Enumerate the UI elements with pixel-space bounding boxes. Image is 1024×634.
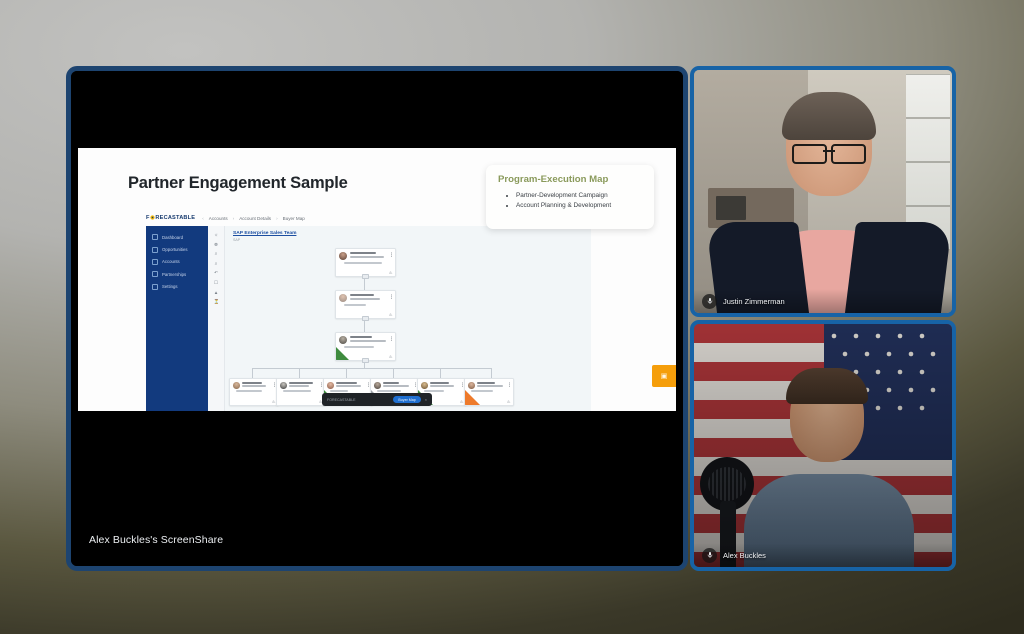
slide-bottom-toolbar[interactable]: FORECASTABLE Buyer Map × [322,393,432,406]
callout-heading: Program-Execution Map [498,174,642,185]
flag-icon [460,400,464,403]
video-vignette [694,324,952,567]
kebab-menu-icon[interactable] [391,252,392,257]
cursor-icon[interactable]: ☼ [214,232,219,237]
slide-title: Partner Engagement Sample [128,174,348,193]
flag-icon [389,271,393,274]
export-icon[interactable]: ☐ [214,280,219,285]
breadcrumb-item-account-details[interactable]: Account Details [239,216,271,221]
org-edge [393,368,394,378]
node-title [336,385,361,387]
settings-icon [152,284,158,290]
canvas-toolbar[interactable]: ☼ ☸ ⌕ ⌕ ↶ ☐ ▲ ⏳ [208,226,225,411]
close-icon[interactable]: × [425,398,427,402]
sidebar-item-label: Dashboard [162,235,183,240]
node-title [350,298,380,300]
chevron-right-icon: › [233,216,235,221]
node-title [477,385,503,387]
avatar [233,382,240,389]
video-feed [694,70,952,313]
breadcrumb-item-accounts[interactable]: Accounts [209,216,228,221]
node-name [430,382,449,384]
avatar [421,382,428,389]
node-title [242,385,266,387]
org-leaf-card[interactable] [229,378,279,406]
expand-toggle[interactable] [362,316,369,321]
org-edge [346,368,347,378]
app-sidebar[interactable]: Dashboard Opportunities Accounts Pa [146,226,208,411]
status-corner [465,390,480,405]
app-mock: F RECASTABLE ‹ Accounts › Account Detail… [146,210,591,411]
org-node[interactable] [335,332,396,361]
org-node[interactable] [335,248,396,277]
avatar [339,294,347,302]
org-node[interactable] [335,290,396,319]
toolbar-message: FORECASTABLE [327,398,389,402]
screenshare-label: Alex Buckles's ScreenShare [89,534,223,546]
node-name [350,294,374,296]
node-name [383,382,399,384]
avatar [468,382,475,389]
app-logo: F RECASTABLE [146,215,195,222]
partnerships-icon [152,271,158,277]
flag-icon [389,313,393,316]
node-detail [283,390,311,392]
org-bus [252,368,492,369]
sidebar-item-dashboard[interactable]: Dashboard [146,231,208,243]
opportunities-icon [152,247,158,253]
sidebar-item-label: Settings [162,284,178,289]
shelf-box [716,196,746,220]
callout-bullet: Partner-Development Campaign [516,191,642,201]
participant-name-bar: Justin Zimmerman [694,289,952,313]
zoom-in-icon[interactable]: ⌕ [214,251,219,256]
node-name [350,336,372,338]
node-name [289,382,313,384]
node-detail [236,390,262,392]
org-chart [225,244,591,411]
node-title [289,385,309,387]
participant-name-bar: Alex Buckles [694,543,952,567]
org-edge [252,368,253,378]
chevron-right-icon: › [276,216,278,221]
undo-icon[interactable]: ↶ [214,270,219,275]
node-detail [344,304,366,306]
eyeglasses [792,144,866,160]
video-feed [694,324,952,567]
avatar [327,382,334,389]
expand-toggle[interactable] [362,358,369,363]
org-edge [299,368,300,378]
node-name [336,382,357,384]
screenshare-letterbox-bottom [71,491,683,566]
flag-icon [507,400,511,403]
avatar [374,382,381,389]
participant-name: Justin Zimmerman [723,297,785,306]
node-title [430,385,454,387]
breadcrumb[interactable]: ‹ Accounts › Account Details › Buyer Map [202,216,305,221]
avatar [280,382,287,389]
microphone-icon[interactable] [702,294,717,309]
sidebar-item-label: Partnerships [162,272,186,277]
callout-bullet-list: Partner-Development Campaign Account Pla… [498,191,642,211]
accounts-icon [152,259,158,265]
node-title [383,385,409,387]
account-title[interactable]: SAP Enterprise Sales Team [233,231,296,236]
zoom-out-icon[interactable]: ⌕ [214,261,219,266]
sidebar-item-accounts[interactable]: Accounts [146,256,208,268]
callout-bullet: Account Planning & Development [516,201,642,211]
app-stage: Partner Engagement Sample F RECASTABLE [0,0,1024,634]
node-name [350,252,376,254]
microphone-icon[interactable] [702,548,717,563]
video-tile-alex-buckles[interactable]: Alex Buckles [690,320,956,571]
hierarchy-icon[interactable]: ▲ [214,290,219,295]
org-edge [491,368,492,378]
program-execution-map-callout: Program-Execution Map Partner-Developmen… [486,165,654,229]
back-arrow-icon[interactable]: ‹ [202,216,204,221]
kebab-menu-icon[interactable] [509,382,510,387]
flag-icon [389,355,393,358]
org-leaf-card[interactable] [464,378,514,406]
sidebar-item-label: Opportunities [162,247,188,252]
shuffle-icon[interactable]: ☸ [214,242,219,247]
buyer-map-button[interactable]: Buyer Map [393,396,420,404]
participant-name: Alex Buckles [723,551,766,560]
node-detail [344,262,382,264]
expand-toggle[interactable] [362,274,369,279]
org-chart-canvas[interactable]: SAP Enterprise Sales Team SAP [225,226,591,411]
flag-icon [272,400,276,403]
sidebar-item-partnerships[interactable]: Partnerships [146,268,208,280]
node-name [242,382,262,384]
avatar [339,336,347,344]
sidebar-item-settings[interactable]: Settings [146,281,208,293]
node-title [350,340,386,342]
account-subtitle: SAP [233,238,240,242]
avatar [339,252,347,260]
sidebar-item-label: Accounts [162,259,180,264]
presentation-slide: Partner Engagement Sample F RECASTABLE [78,148,676,411]
history-icon[interactable]: ⏳ [214,299,219,304]
side-tab-button[interactable]: ▣ [652,365,676,387]
screenshare-letterbox-top [71,71,683,148]
status-corner [336,347,349,360]
kebab-menu-icon[interactable] [391,294,392,299]
video-tile-justin-zimmerman[interactable]: Justin Zimmerman [690,66,956,317]
sidebar-item-opportunities[interactable]: Opportunities [146,243,208,255]
screenshare-panel[interactable]: Partner Engagement Sample F RECASTABLE [66,66,688,571]
node-name [477,382,495,384]
node-title [350,256,384,258]
org-leaf-card[interactable] [276,378,326,406]
app-logo-suffix: RECASTABLE [155,215,195,221]
document-icon: ▣ [661,372,668,380]
kebab-menu-icon[interactable] [391,336,392,341]
breadcrumb-item-buyer-map[interactable]: Buyer Map [283,216,305,221]
dashboard-icon [152,234,158,240]
org-edge [440,368,441,378]
app-body: Dashboard Opportunities Accounts Pa [146,226,591,411]
